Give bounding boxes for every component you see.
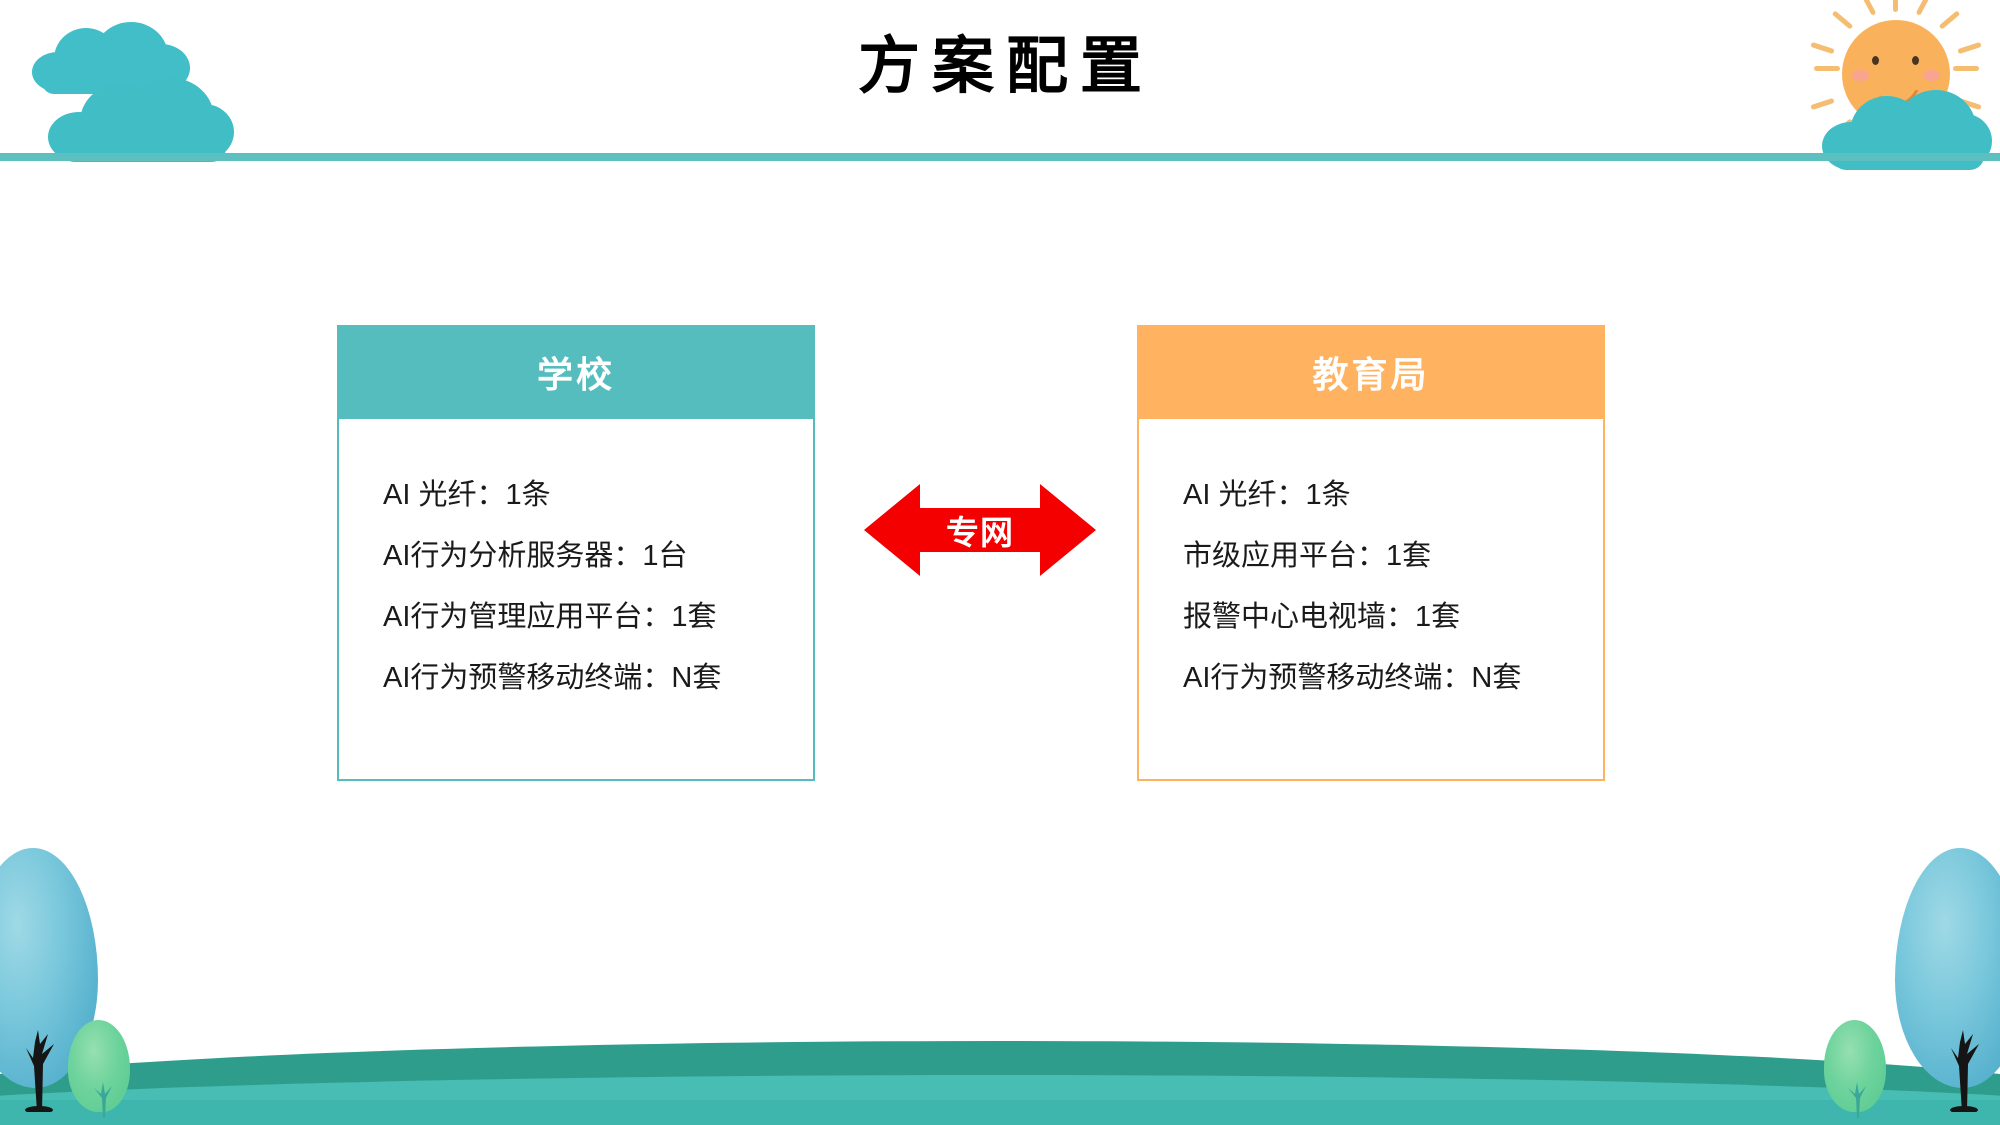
tree-icon: [1895, 848, 2000, 1110]
list-item: AI 光纤：1条: [1183, 481, 1559, 510]
slide-canvas: 方案配置 学校 AI 光纤：1条 AI行为分析服务器：1台 AI行为管理应用平台…: [0, 0, 2000, 1125]
panel-school-body: AI 光纤：1条 AI行为分析服务器：1台 AI行为管理应用平台：1套 AI行为…: [337, 419, 815, 781]
list-item: AI行为管理应用平台：1套: [383, 603, 769, 632]
double-arrow-icon: 专网: [864, 480, 1096, 580]
panel-bureau-body: AI 光纤：1条 市级应用平台：1套 报警中心电视墙：1套 AI行为预警移动终端…: [1137, 419, 1605, 781]
panel-bureau: 教育局 AI 光纤：1条 市级应用平台：1套 报警中心电视墙：1套 AI行为预警…: [1137, 325, 1605, 781]
page-title: 方案配置: [0, 36, 2000, 98]
list-item: AI行为预警移动终端：N套: [1183, 664, 1559, 693]
list-item: AI行为预警移动终端：N套: [383, 664, 769, 693]
panel-bureau-header: 教育局: [1137, 325, 1605, 419]
panel-school-header: 学校: [337, 325, 815, 419]
list-item: 市级应用平台：1套: [1183, 542, 1559, 571]
tree-icon: [68, 1020, 146, 1118]
list-item: AI 光纤：1条: [383, 481, 769, 510]
list-item: 报警中心电视墙：1套: [1183, 603, 1559, 632]
ground-shape-flat: [0, 1100, 2000, 1125]
list-item: AI行为分析服务器：1台: [383, 542, 769, 571]
header-divider: [0, 153, 2000, 161]
panel-school: 学校 AI 光纤：1条 AI行为分析服务器：1台 AI行为管理应用平台：1套 A…: [337, 325, 815, 781]
tree-icon: [1824, 1020, 1902, 1118]
